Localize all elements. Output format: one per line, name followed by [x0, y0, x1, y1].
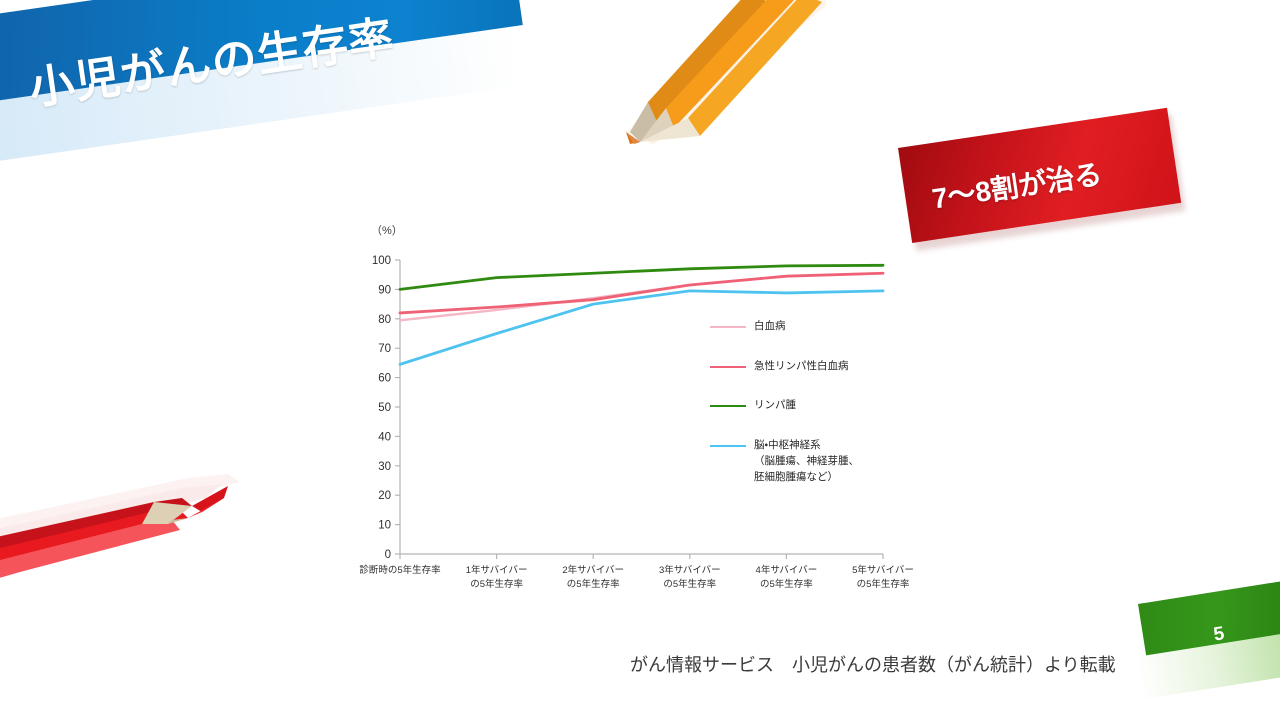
svg-text:70: 70 — [378, 343, 391, 355]
legend-item-0: 白血病 — [710, 320, 900, 360]
legend-label: 急性リンパ性白血病 — [754, 358, 849, 374]
svg-text:80: 80 — [378, 314, 391, 326]
svg-text:0: 0 — [385, 549, 391, 561]
orange-pencil-icon — [596, 0, 826, 144]
slide-canvas: 小児がんの生存率 7〜8割が治る （%） 0102030405060708090… — [0, 0, 1280, 720]
legend-sublabel: 胚細胞腫瘍など） — [754, 469, 838, 485]
svg-text:30: 30 — [378, 461, 391, 473]
svg-text:10: 10 — [378, 520, 391, 532]
chart-x-label-2: 2年サバイバーの5年生存率 — [538, 564, 648, 591]
chart-x-label-5: 5年サバイバーの5年生存率 — [828, 564, 938, 591]
legend-swatch-icon — [710, 405, 746, 407]
chart-series-line-2 — [400, 265, 883, 289]
legend-sublabel: （脳腫瘍、神経芽腫、 — [754, 453, 859, 469]
chart-x-label-4: 4年サバイバーの5年生存率 — [731, 564, 841, 591]
legend-label: 白血病 — [754, 318, 786, 334]
chart-x-label-0: 診断時の5年生存率 — [345, 564, 455, 578]
svg-text:50: 50 — [378, 402, 391, 414]
source-caption: がん情報サービス 小児がんの患者数（がん統計）より転載 — [630, 650, 1190, 680]
svg-text:90: 90 — [378, 284, 391, 296]
svg-text:60: 60 — [378, 373, 391, 385]
legend-swatch-icon — [710, 366, 746, 368]
chart-legend: 白血病急性リンパ性白血病リンパ腫脳・中枢神経系（脳腫瘍、神経芽腫、胚細胞腫瘍など… — [710, 320, 900, 483]
legend-item-1: 急性リンパ性白血病 — [710, 360, 900, 400]
legend-item-2: リンパ腫 — [710, 399, 900, 439]
chart-x-label-1: 1年サバイバーの5年生存率 — [442, 564, 552, 591]
survival-rate-chart: （%） 0102030405060708090100 診断時の5年生存率1年サバ… — [360, 208, 905, 608]
chart-x-label-3: 3年サバイバーの5年生存率 — [635, 564, 745, 591]
svg-text:40: 40 — [378, 431, 391, 443]
svg-text:100: 100 — [372, 255, 391, 267]
legend-item-3: 脳・中枢神経系（脳腫瘍、神経芽腫、胚細胞腫瘍など） — [710, 439, 900, 483]
red-pencil-icon — [0, 468, 248, 586]
legend-swatch-icon — [710, 445, 746, 447]
legend-label: リンパ腫 — [754, 397, 796, 413]
svg-text:20: 20 — [378, 490, 391, 502]
legend-swatch-icon — [710, 326, 746, 328]
legend-label: 脳・中枢神経系 — [754, 437, 821, 453]
